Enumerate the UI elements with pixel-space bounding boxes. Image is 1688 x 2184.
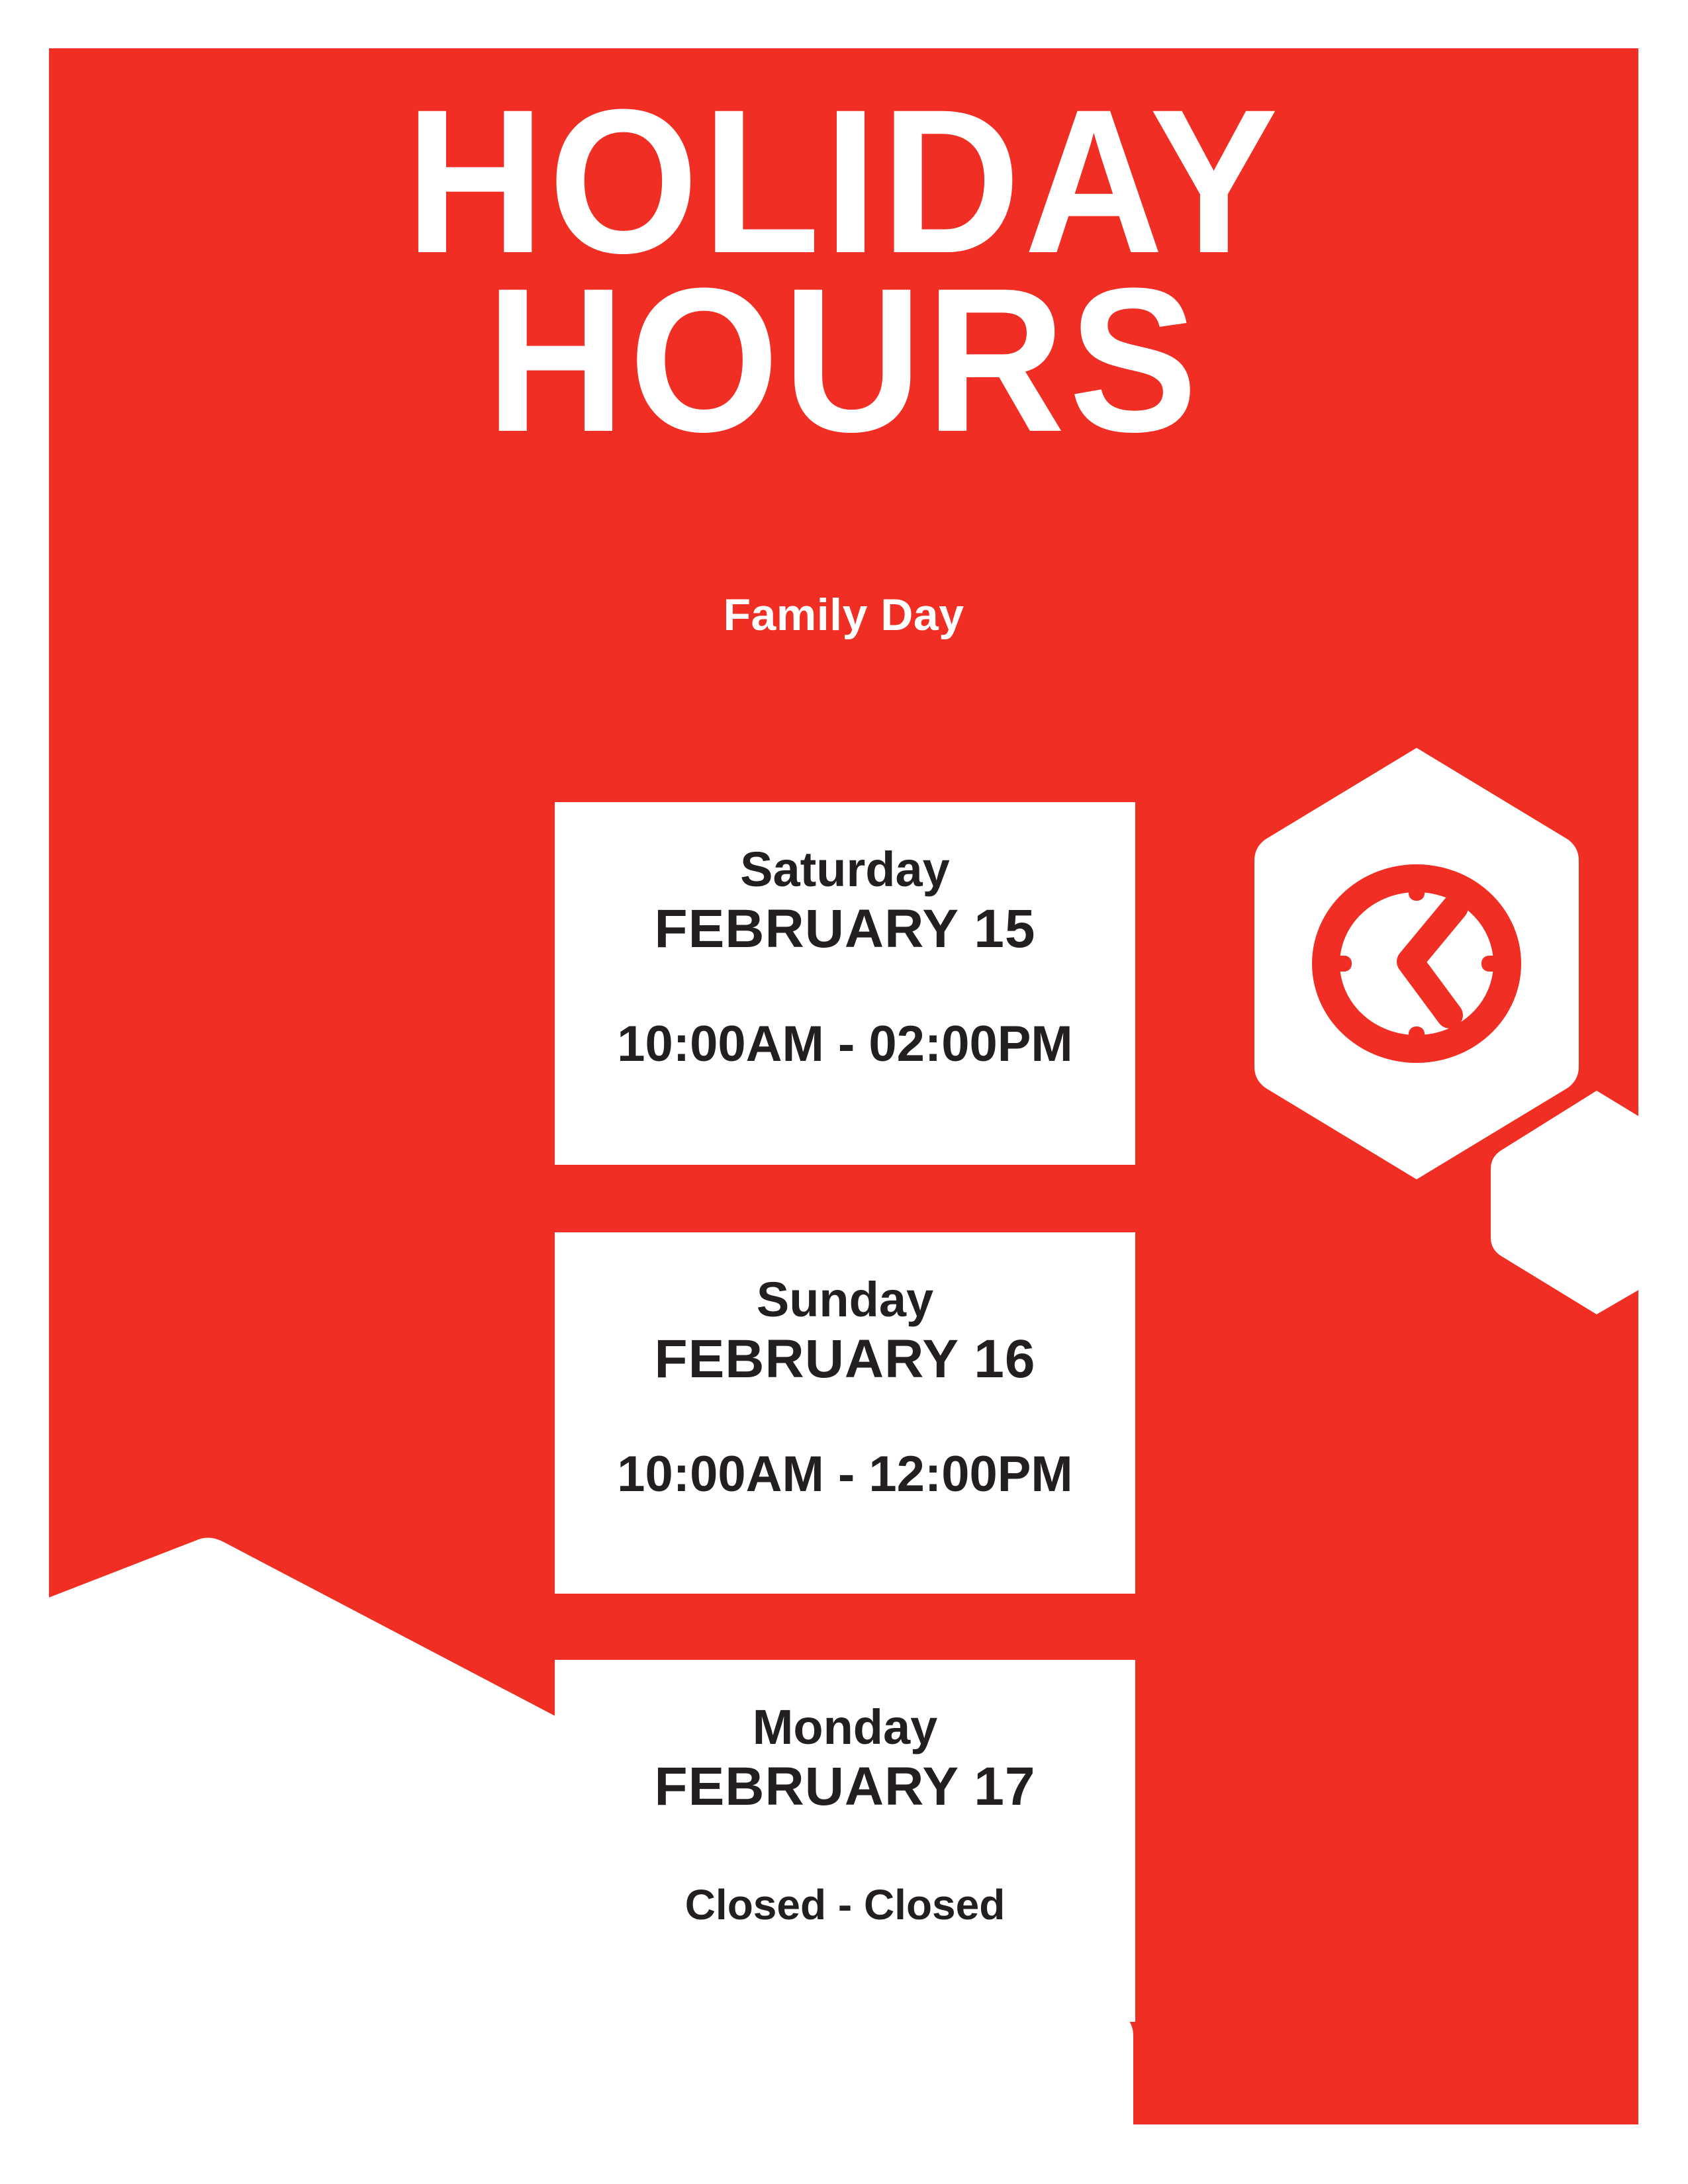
day-hours: Closed - Closed xyxy=(685,1884,1006,1926)
day-name: Monday xyxy=(753,1701,938,1754)
schedule-card-sunday: Sunday FEBRUARY 16 10:00AM - 12:00PM xyxy=(555,1232,1135,1594)
page-title: HOLIDAY HOURS xyxy=(49,99,1638,442)
title-line-hours: HOURS xyxy=(97,278,1591,442)
day-name: Saturday xyxy=(740,843,950,896)
day-date: FEBRUARY 15 xyxy=(654,896,1035,962)
schedule-list: Saturday FEBRUARY 15 10:00AM - 02:00PM S… xyxy=(555,802,1135,2022)
subtitle-occasion: Family Day xyxy=(49,592,1638,637)
schedule-card-saturday: Saturday FEBRUARY 15 10:00AM - 02:00PM xyxy=(555,802,1135,1165)
day-hours: 10:00AM - 02:00PM xyxy=(617,1019,1073,1069)
schedule-card-monday: Monday FEBRUARY 17 Closed - Closed xyxy=(555,1660,1135,2022)
holiday-hours-poster: HOLIDAY HOURS Family Day Saturday FEBRUA… xyxy=(0,0,1688,2184)
day-date: FEBRUARY 16 xyxy=(654,1326,1035,1392)
day-name: Sunday xyxy=(757,1273,933,1326)
day-date: FEBRUARY 17 xyxy=(654,1754,1035,1820)
day-hours: 10:00AM - 12:00PM xyxy=(617,1449,1073,1500)
title-line-holiday: HOLIDAY xyxy=(97,99,1591,263)
